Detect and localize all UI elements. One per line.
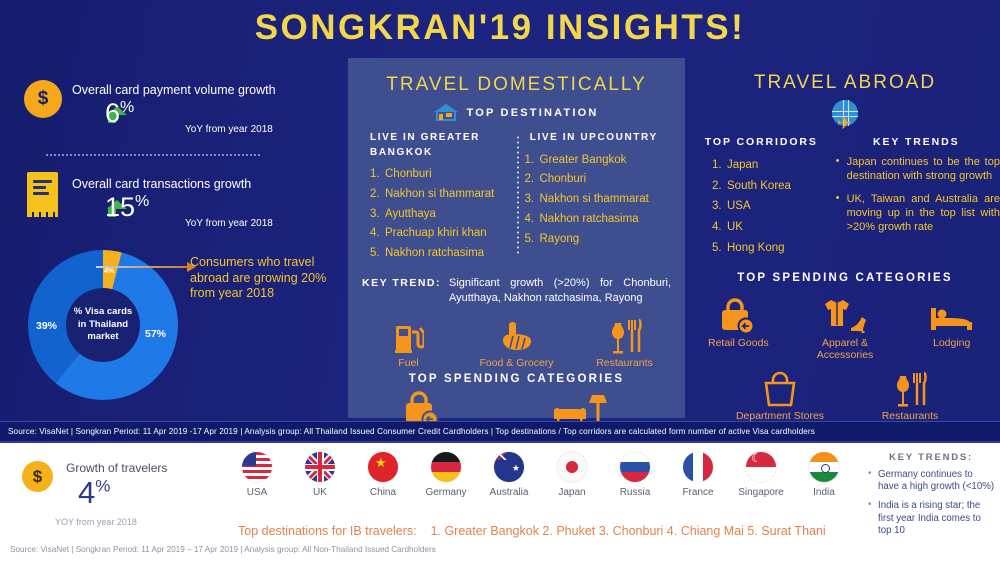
list-heading: LIVE IN UPCOUNTRY bbox=[525, 131, 664, 146]
callout-text: Consumers who travel abroad are growing … bbox=[190, 255, 340, 302]
flag-item-uk: UK bbox=[291, 452, 349, 498]
stat-value: 6% bbox=[105, 98, 134, 129]
key-trends-heading: KEY TRENDS bbox=[833, 136, 1000, 148]
list-item: 2.South Korea bbox=[712, 176, 833, 197]
france-flag-icon bbox=[683, 452, 713, 482]
handbag-tag-icon bbox=[690, 294, 787, 334]
grocery-icon bbox=[474, 316, 560, 354]
list-item: 2.Nakhon si thammarat bbox=[370, 185, 509, 205]
abroad-categories-row-2: Department Stores Restaurants bbox=[690, 367, 1000, 422]
list-item: 5.Rayong bbox=[525, 230, 664, 250]
page-title: SONGKRAN'19 INSIGHTS! bbox=[0, 8, 1000, 48]
list-item: Japan continues to be the top destinatio… bbox=[847, 155, 1000, 184]
key-trend-domestic: KEY TREND: Significant growth (>20%) for… bbox=[348, 276, 685, 306]
list-item: 3.USA bbox=[712, 196, 833, 217]
fuel-pump-icon bbox=[366, 316, 452, 354]
australia-flag-icon bbox=[494, 452, 524, 482]
category-label: Retail Goods bbox=[690, 337, 787, 349]
panel-title-domestic: TRAVEL DOMESTICALLY bbox=[348, 74, 685, 96]
bottom-key-trends-heading: KEY TRENDS: bbox=[866, 452, 996, 463]
category-retail-goods: Retail Goods bbox=[690, 294, 787, 361]
flag-item-china: China bbox=[354, 452, 412, 498]
category-lodging: Lodging bbox=[903, 294, 1000, 361]
stat-label: Overall card transactions growth bbox=[72, 177, 251, 191]
stat-yoy-note: YoY from year 2018 bbox=[185, 124, 273, 135]
flag-label: UK bbox=[291, 487, 349, 498]
list-item: 1.Chonburi bbox=[370, 165, 509, 185]
stat-label: Overall card payment volume growth bbox=[72, 83, 276, 97]
stat-card-transactions: Overall card transactions growth 15% YoY… bbox=[0, 164, 345, 242]
list-item: 4.UK bbox=[712, 217, 833, 238]
stat-card-payment-volume: $ Overall card payment volume growth 6% … bbox=[0, 70, 345, 148]
list-item: 1.Greater Bangkok bbox=[525, 151, 664, 171]
list-item: 4.Nakhon ratchasima bbox=[525, 210, 664, 230]
list-upcountry: LIVE IN UPCOUNTRY 1.Greater Bangkok 2.Ch… bbox=[517, 131, 672, 264]
stat-yoy-note: YoY from year 2018 bbox=[185, 218, 273, 229]
list-item: 4.Prachuap khiri khan bbox=[370, 224, 509, 244]
category-label: Apparel & Accessories bbox=[797, 337, 894, 361]
key-trend-label: KEY TREND: bbox=[362, 276, 441, 306]
callout-arrow-icon bbox=[96, 266, 188, 268]
source-bar-bottom: Source: VisaNet | Songkran Period: 11 Ap… bbox=[10, 545, 436, 554]
stat-number: 15 bbox=[105, 192, 135, 222]
list-item: 2.Chonburi bbox=[525, 170, 664, 190]
flag-item-france: France bbox=[669, 452, 727, 498]
china-flag-icon bbox=[368, 452, 398, 482]
top-corridors-block: TOP CORRIDORS 1.Japan 2.South Korea 3.US… bbox=[690, 136, 833, 258]
donut-value-stay-residences: 57% bbox=[145, 328, 166, 340]
shopping-bag-icon bbox=[730, 367, 830, 407]
list-heading: LIVE IN GREATER BANGKOK bbox=[370, 131, 509, 160]
dotted-divider bbox=[45, 154, 260, 156]
stat-number: 6 bbox=[105, 98, 120, 128]
flag-item-usa: USA bbox=[228, 452, 286, 498]
flag-label: France bbox=[669, 487, 727, 498]
house-icon bbox=[434, 104, 458, 121]
category-label: Restaurants bbox=[582, 357, 668, 369]
top-dark-section: SONGKRAN'19 INSIGHTS! $ Overall card pay… bbox=[0, 0, 1000, 443]
flag-item-russia: Russia bbox=[606, 452, 664, 498]
receipt-icon bbox=[27, 172, 58, 212]
russia-flag-icon bbox=[620, 452, 650, 482]
abroad-categories-row-1: Retail Goods Apparel & Accessories Lodgi… bbox=[690, 294, 1000, 361]
flag-label: Australia bbox=[480, 487, 538, 498]
source-bar-top: Source: VisaNet | Songkran Period: 11 Ap… bbox=[0, 421, 1000, 443]
songkran-insights-infographic: SONGKRAN'19 INSIGHTS! $ Overall card pay… bbox=[0, 0, 1000, 563]
growth-of-travelers-label: Growth of travelers bbox=[66, 461, 167, 475]
growth-of-travelers-value: 4% bbox=[78, 475, 110, 511]
key-trend-text: Significant growth (>20%) for Chonburi, … bbox=[449, 276, 671, 306]
list-item: 5.Nakhon ratchasima bbox=[370, 244, 509, 264]
abroad-columns: TOP CORRIDORS 1.Japan 2.South Korea 3.US… bbox=[690, 136, 1000, 258]
category-label: Food & Grocery bbox=[474, 357, 560, 369]
flag-item-india: India bbox=[795, 452, 853, 498]
bottom-key-trends: KEY TRENDS: Germany continues to have a … bbox=[866, 452, 996, 544]
category-food-grocery: Food & Grocery bbox=[474, 316, 560, 369]
dollar-coin-icon: $ bbox=[22, 461, 53, 492]
flag-label: Germany bbox=[417, 487, 475, 498]
stat-unit: % bbox=[135, 193, 149, 210]
japan-flag-icon bbox=[557, 452, 587, 482]
left-stats-column: $ Overall card payment volume growth 6% … bbox=[0, 70, 345, 420]
travel-domestically-panel: TRAVEL DOMESTICALLY TOP DESTINATION LIVE… bbox=[348, 58, 685, 442]
spending-categories-label-domestic: TOP SPENDING CATEGORIES bbox=[348, 373, 685, 385]
plane-icon: ✈ bbox=[837, 114, 852, 132]
stat-value: 15% bbox=[105, 192, 149, 223]
visa-cards-donut-chart: % Visa cards in Thailand market 4% 39% 5… bbox=[28, 250, 178, 400]
flag-item-germany: Germany bbox=[417, 452, 475, 498]
flag-item-australia: Australia bbox=[480, 452, 538, 498]
list-item: India is a rising star; the first year I… bbox=[878, 500, 996, 537]
spending-categories-label-abroad: TOP SPENDING CATEGORIES bbox=[690, 272, 1000, 284]
donut-value-travel-domestically: 39% bbox=[36, 320, 57, 332]
flag-label: Singapore bbox=[732, 487, 790, 498]
usa-flag-icon bbox=[242, 452, 272, 482]
category-restaurants: Restaurants bbox=[582, 316, 668, 369]
top-corridors-heading: TOP CORRIDORS bbox=[690, 136, 833, 148]
travel-abroad-panel: TRAVEL ABROAD ✈ TOP CORRIDORS 1.Japan 2.… bbox=[690, 72, 1000, 422]
list-item: 3.Ayutthaya bbox=[370, 205, 509, 225]
bed-icon bbox=[903, 294, 1000, 334]
donut-center-label: % Visa cards in Thailand market bbox=[66, 288, 140, 362]
germany-flag-icon bbox=[431, 452, 461, 482]
bottom-top-destinations-label: Top destinations for IB travelers: bbox=[238, 524, 417, 538]
panel-title-abroad: TRAVEL ABROAD bbox=[690, 72, 1000, 94]
top-destination-header: TOP DESTINATION bbox=[348, 104, 685, 121]
restaurant-icon bbox=[582, 316, 668, 354]
category-restaurants: Restaurants bbox=[860, 367, 960, 422]
bottom-top-destinations-value: 1. Greater Bangkok 2. Phuket 3. Chonburi… bbox=[431, 524, 826, 538]
category-department-stores: Department Stores bbox=[730, 367, 830, 422]
list-item: UK, Taiwan and Australia are moving up i… bbox=[847, 192, 1000, 235]
singapore-flag-icon bbox=[746, 452, 776, 482]
flag-item-singapore: Singapore bbox=[732, 452, 790, 498]
category-label: Lodging bbox=[903, 337, 1000, 349]
donut-value-travel-abroad: 4% bbox=[104, 268, 114, 275]
growth-of-travelers-yoy: YOY from year 2018 bbox=[55, 517, 137, 527]
flags-row: USA UK China Germany Australia Japan Rus… bbox=[228, 452, 853, 498]
list-item: 1.Japan bbox=[712, 155, 833, 176]
domestic-categories-row-1: Fuel Food & Grocery Restaurants bbox=[348, 316, 685, 369]
apparel-icon bbox=[797, 294, 894, 334]
dollar-coin-icon: $ bbox=[26, 82, 60, 116]
india-flag-icon bbox=[809, 452, 839, 482]
destination-lists: LIVE IN GREATER BANGKOK 1.Chonburi 2.Nak… bbox=[348, 131, 685, 264]
restaurant-icon bbox=[860, 367, 960, 407]
uk-flag-icon bbox=[305, 452, 335, 482]
flag-label: Russia bbox=[606, 487, 664, 498]
list-item: Germany continues to have a high growth … bbox=[878, 469, 996, 493]
stat-number: 4 bbox=[78, 475, 95, 510]
flag-item-japan: Japan bbox=[543, 452, 601, 498]
flag-label: Japan bbox=[543, 487, 601, 498]
stat-unit: % bbox=[95, 477, 110, 496]
key-trends-block: KEY TRENDS Japan continues to be the top… bbox=[833, 136, 1000, 258]
category-fuel: Fuel bbox=[366, 316, 452, 369]
bottom-top-destinations: Top destinations for IB travelers:1. Gre… bbox=[238, 524, 826, 538]
category-apparel: Apparel & Accessories bbox=[797, 294, 894, 361]
list-item: 3.Nakhon si thammarat bbox=[525, 190, 664, 210]
flag-label: USA bbox=[228, 487, 286, 498]
list-item: 5.Hong Kong bbox=[712, 238, 833, 259]
category-label: Fuel bbox=[366, 357, 452, 369]
flag-label: China bbox=[354, 487, 412, 498]
stat-unit: % bbox=[120, 99, 134, 116]
flag-label: India bbox=[795, 487, 853, 498]
list-greater-bangkok: LIVE IN GREATER BANGKOK 1.Chonburi 2.Nak… bbox=[362, 131, 517, 264]
top-destination-label: TOP DESTINATION bbox=[466, 107, 598, 119]
